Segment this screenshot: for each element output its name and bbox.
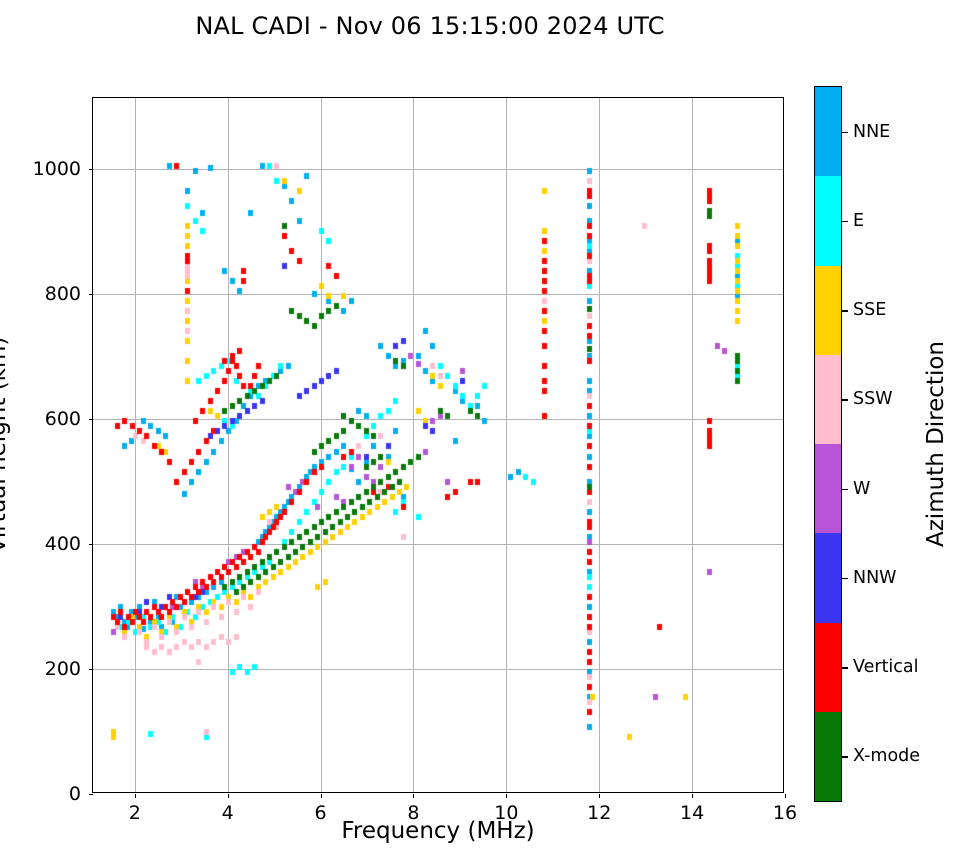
colorbar-tick [842,399,848,400]
colorbar-tick [842,310,848,311]
x-tick [785,794,786,798]
colorbar-label-vertical: Vertical [853,657,919,677]
y-tick [89,294,93,295]
colorbar-segment-e [815,176,841,265]
colorbar-label-e: E [853,211,864,231]
colorbar: NNEESSESSWWNNWVerticalX-mode [814,86,842,802]
x-tick [135,794,136,798]
y-tick-label: 600 [45,408,81,430]
colorbar-tick [842,132,848,133]
colorbar-label-w: W [853,479,870,499]
colorbar-label-x-mode: X-mode [853,746,920,766]
x-tick [506,794,507,798]
y-tick [89,419,93,420]
colorbar-tick [842,667,848,668]
colorbar-segment-sse [815,266,841,355]
x-tick [413,794,414,798]
y-tick [89,544,93,545]
colorbar-tick [842,756,848,757]
ionogram-figure: NAL CADI - Nov 06 15:15:00 2024 UTC 2468… [0,0,958,857]
colorbar-tick [842,221,848,222]
x-tick [599,794,600,798]
x-tick [321,794,322,798]
x-tick [228,794,229,798]
y-tick [89,794,93,795]
colorbar-tick [842,578,848,579]
page-title: NAL CADI - Nov 06 15:15:00 2024 UTC [0,12,860,40]
y-tick-label: 400 [45,533,81,555]
y-tick-label: 0 [69,783,81,805]
y-tick [89,669,93,670]
colorbar-label-ssw: SSW [853,389,893,409]
plot-area: 24681012141602004006008001000 [92,97,784,793]
colorbar-segment-ssw [815,355,841,444]
y-tick-label: 200 [45,658,81,680]
colorbar-label-nnw: NNW [853,568,897,588]
y-tick-label: 800 [45,283,81,305]
colorbar-segment-nnw [815,533,841,622]
colorbar-label-sse: SSE [853,300,886,320]
y-tick [89,169,93,170]
colorbar-label-nne: NNE [853,122,890,142]
colorbar-segment-w [815,444,841,533]
colorbar-segment-x-mode [815,712,841,801]
colorbar-segment-nne [815,87,841,176]
x-axis-title: Frequency (MHz) [92,818,784,844]
x-tick [692,794,693,798]
data-layer [93,98,783,792]
y-axis-title: Virtual height (km) [0,235,11,655]
colorbar-tick [842,489,848,490]
y-tick-label: 1000 [33,158,81,180]
colorbar-title: Azimuth Direction [923,341,949,547]
colorbar-segment-vertical [815,623,841,712]
